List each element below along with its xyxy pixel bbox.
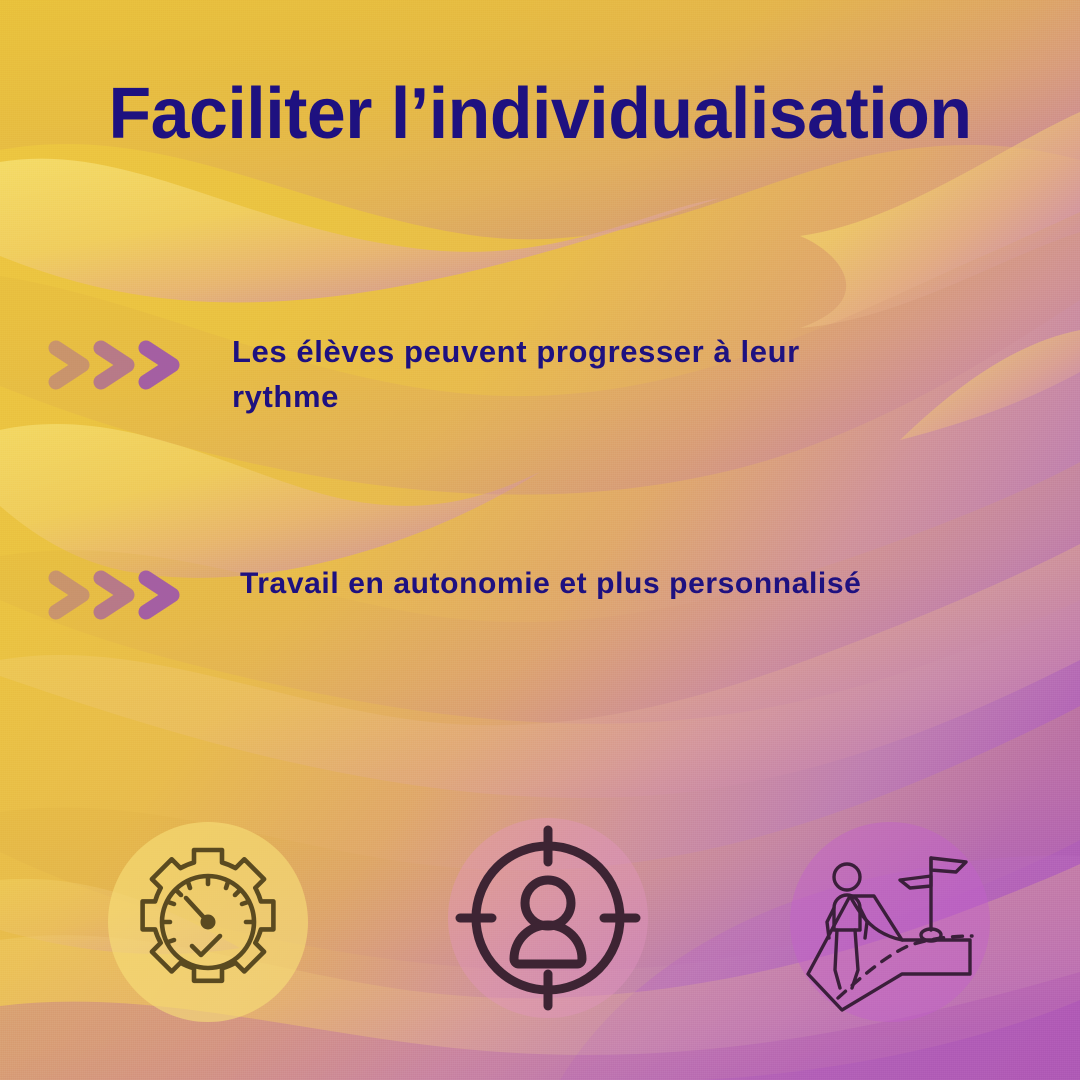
slide-faciliter-individualisation: Faciliter l’individualisation Les élèves… [0, 0, 1080, 1080]
bullet-text-1: Les élèves peuvent progresser à leur ryt… [232, 330, 892, 420]
bullet-text-2: Travail en autonomie et plus personnalis… [240, 562, 861, 606]
triple-chevron-right-icon [44, 564, 194, 626]
icon-row [0, 810, 1080, 1040]
bullet-item-1: Les élèves peuvent progresser à leur ryt… [44, 330, 944, 420]
gear-gauge-check-icon [108, 822, 308, 1022]
icon-slot-gear [108, 822, 308, 1022]
person-target-icon [448, 818, 648, 1018]
crossroads-signpost-person-icon [790, 822, 990, 1022]
triple-chevron-right-icon [44, 334, 194, 396]
bullet-item-2: Travail en autonomie et plus personnalis… [44, 562, 1064, 626]
page-title: Faciliter l’individualisation [16, 78, 1064, 150]
icon-slot-target [448, 818, 648, 1018]
icon-slot-crossroads [790, 822, 990, 1022]
